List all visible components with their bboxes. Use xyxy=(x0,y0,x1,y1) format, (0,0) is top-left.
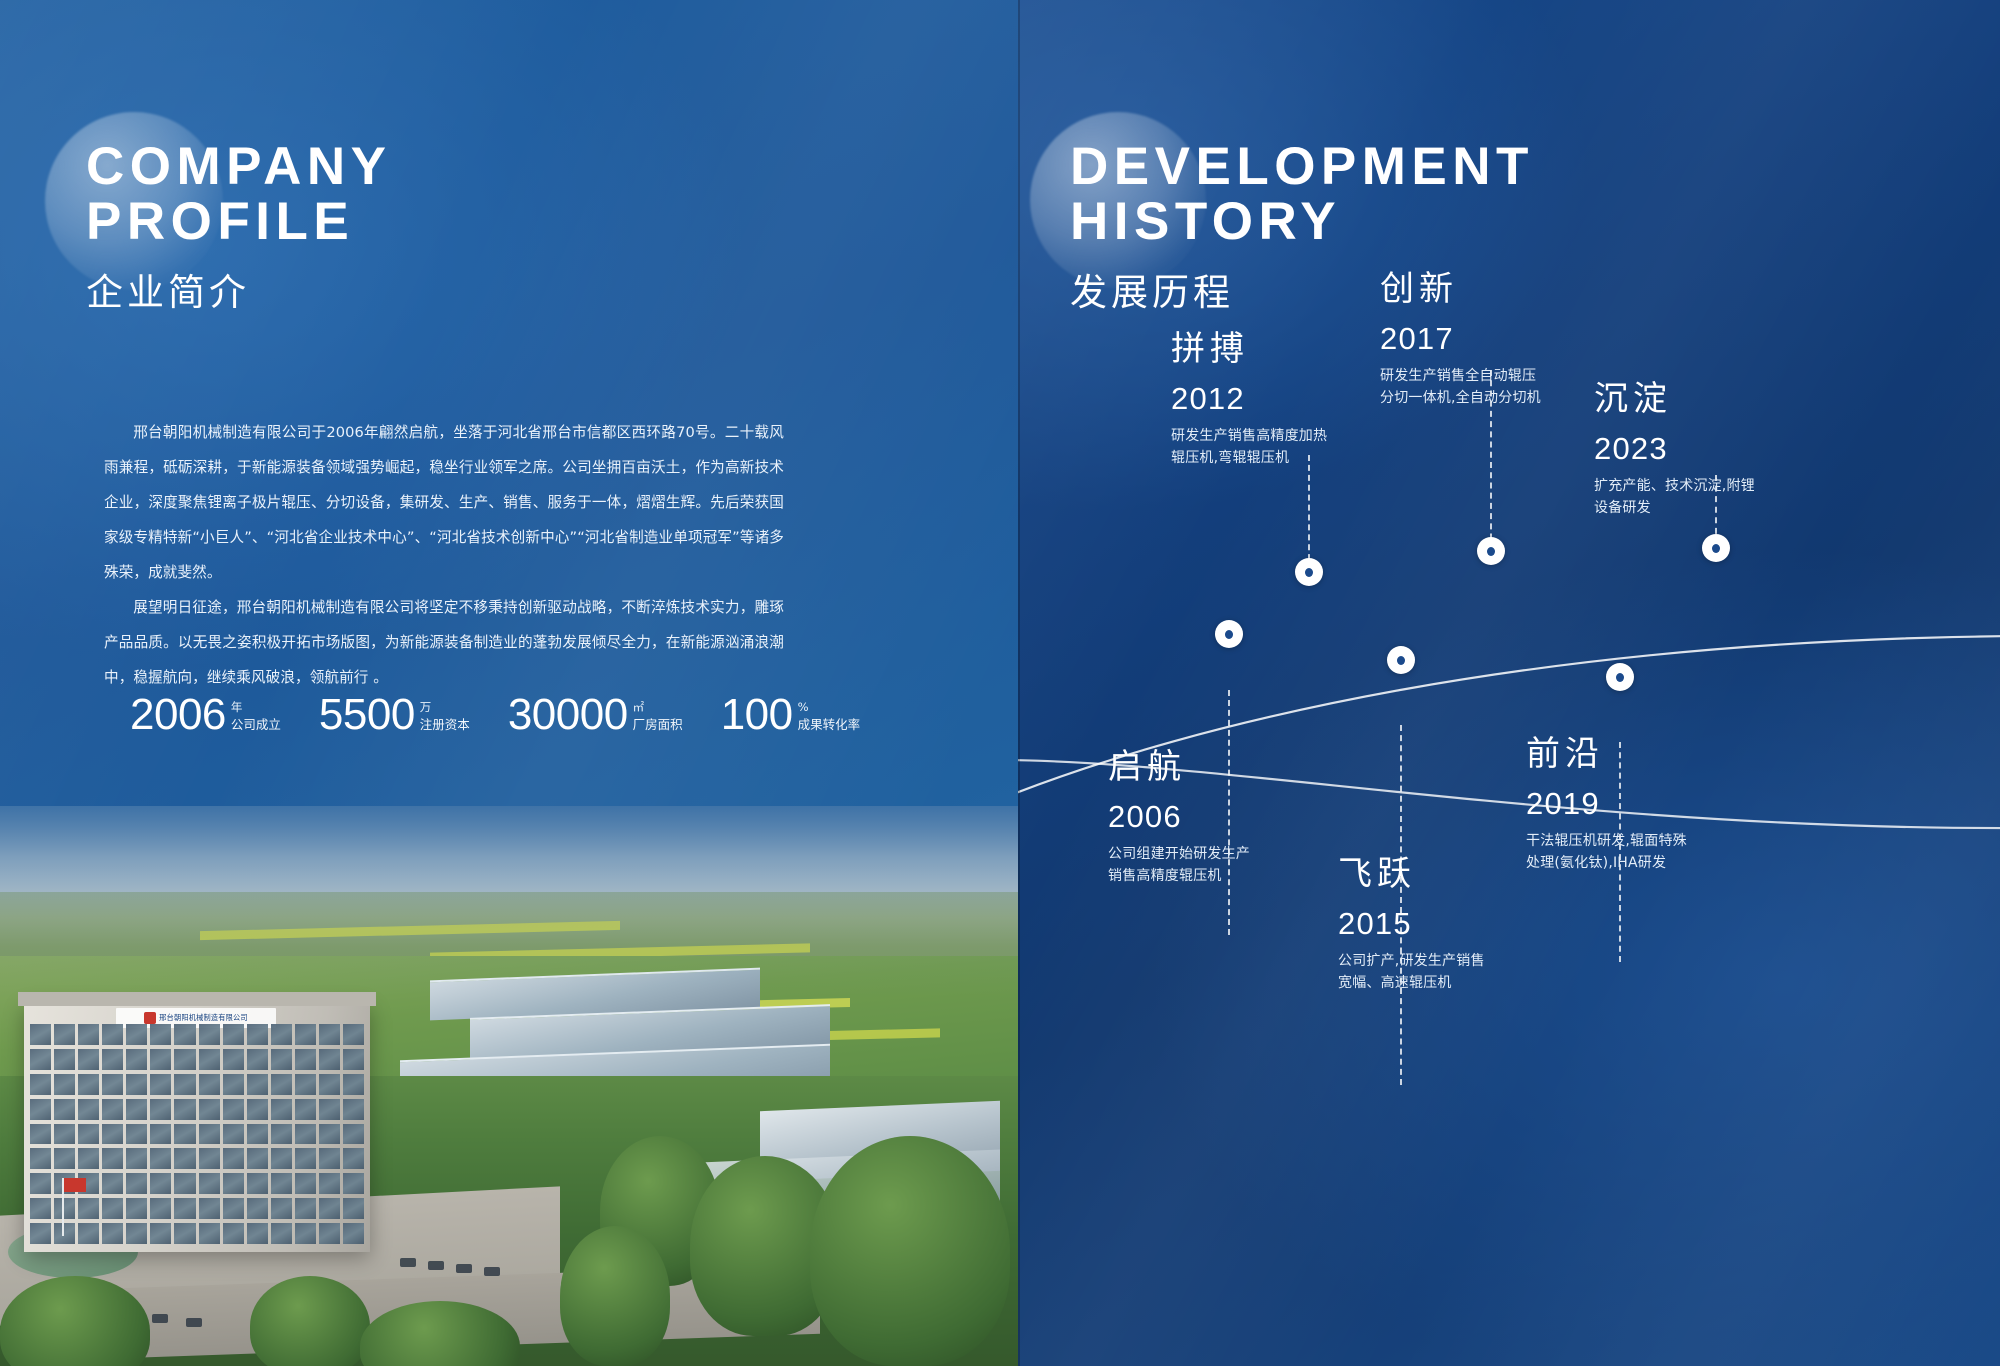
timeline-year: 2019 xyxy=(1526,788,1826,819)
company-stats-row: 2006 年 公司成立 5500 万 注册资本 30000 ㎡ 厂房面积 xyxy=(130,695,850,735)
stat-item: 100 % 成果转化率 xyxy=(721,695,860,735)
timeline-year: 2023 xyxy=(1594,433,1894,464)
timeline-description-line2: 宽幅、高速辊压机 xyxy=(1338,972,1638,994)
company-description-paragraph-2: 展望明日征途，邢台朝阳机械制造有限公司将坚定不移秉持创新驱动战略，不断淬炼技术实… xyxy=(104,590,784,695)
timeline-item-2023: 沉淀 2023 扩充产能、技术沉淀,附锂 设备研发 xyxy=(1594,380,1894,519)
timeline-description-line1: 扩充产能、技术沉淀,附锂 xyxy=(1594,475,1894,497)
timeline-item-2019: 前沿 2019 干法辊压机研发,辊面特殊 处理(氨化钛),IHA研发 xyxy=(1526,735,1826,874)
stat-meta: % 成果转化率 xyxy=(798,700,861,736)
photo-atmospheric-haze xyxy=(0,806,1018,1366)
stat-unit: 年 xyxy=(231,700,281,714)
stat-unit: 万 xyxy=(420,700,470,714)
stat-item: 30000 ㎡ 厂房面积 xyxy=(508,695,683,735)
company-profile-header: COMPANY PROFILE 企业简介 xyxy=(86,140,391,316)
page-title-en-line1: COMPANY xyxy=(86,140,391,195)
timeline-description-line1: 干法辊压机研发,辊面特殊 xyxy=(1526,830,1826,852)
timeline-year: 2015 xyxy=(1338,908,1638,939)
timeline-node-2012[interactable] xyxy=(1295,558,1323,586)
factory-aerial-photo: 邢台朝阳机械制造有限公司 xyxy=(0,806,1018,1366)
page-title-en-line2: HISTORY xyxy=(1070,195,1534,250)
stat-value: 100 xyxy=(721,695,793,735)
stat-unit: ㎡ xyxy=(633,700,683,714)
company-description-paragraph-1: 邢台朝阳机械制造有限公司于2006年翩然启航，坐落于河北省邢台市信都区西环路70… xyxy=(104,415,784,590)
stat-meta: 年 公司成立 xyxy=(231,700,281,736)
stat-value: 2006 xyxy=(130,695,226,735)
page-title-cn: 企业简介 xyxy=(86,262,391,316)
stat-meta: ㎡ 厂房面积 xyxy=(633,700,683,736)
stat-item: 5500 万 注册资本 xyxy=(319,695,470,735)
timeline-node-2019[interactable] xyxy=(1606,663,1634,691)
stat-value: 30000 xyxy=(508,695,628,735)
page-title-en-line1: DEVELOPMENT xyxy=(1070,140,1534,195)
timeline-node-2006[interactable] xyxy=(1215,620,1243,648)
timeline-year: 2017 xyxy=(1380,323,1680,354)
company-profile-page: COMPANY PROFILE 企业简介 邢台朝阳机械制造有限公司于2006年翩… xyxy=(0,0,1018,1366)
timeline-item-2015: 飞跃 2015 公司扩产,研发生产销售 宽幅、高速辊压机 xyxy=(1338,855,1638,994)
timeline-node-2017[interactable] xyxy=(1477,537,1505,565)
stat-item: 2006 年 公司成立 xyxy=(130,695,281,735)
timeline-description-line2: 辊压机,弯辊辊压机 xyxy=(1171,447,1471,469)
stat-label: 成果转化率 xyxy=(798,717,861,733)
stat-unit: % xyxy=(798,700,861,714)
timeline-description-line2: 设备研发 xyxy=(1594,497,1894,519)
development-history-page: DEVELOPMENT HISTORY 发展历程 拼搏 2012 研发生产销售高… xyxy=(1018,0,2000,1366)
timeline-title: 沉淀 xyxy=(1594,380,1894,419)
stat-label: 公司成立 xyxy=(231,717,281,733)
spread-gutter xyxy=(1018,0,1020,1366)
timeline-description-line2: 处理(氨化钛),IHA研发 xyxy=(1526,852,1826,874)
timeline-description-line1: 研发生产销售高精度加热 xyxy=(1171,425,1471,447)
timeline-node-2015[interactable] xyxy=(1387,646,1415,674)
timeline-description-line1: 公司扩产,研发生产销售 xyxy=(1338,950,1638,972)
page-title-en-line2: PROFILE xyxy=(86,195,391,250)
timeline-title: 启航 xyxy=(1108,748,1408,787)
stat-value: 5500 xyxy=(319,695,415,735)
timeline-node-2023[interactable] xyxy=(1702,534,1730,562)
stat-label: 厂房面积 xyxy=(633,717,683,733)
stat-meta: 万 注册资本 xyxy=(420,700,470,736)
timeline-title: 创新 xyxy=(1380,270,1680,309)
company-description: 邢台朝阳机械制造有限公司于2006年翩然启航，坐落于河北省邢台市信都区西环路70… xyxy=(104,415,784,695)
brochure-spread: COMPANY PROFILE 企业简介 邢台朝阳机械制造有限公司于2006年翩… xyxy=(0,0,2000,1366)
timeline-title: 前沿 xyxy=(1526,735,1826,774)
timeline-year: 2006 xyxy=(1108,801,1408,832)
stat-label: 注册资本 xyxy=(420,717,470,733)
